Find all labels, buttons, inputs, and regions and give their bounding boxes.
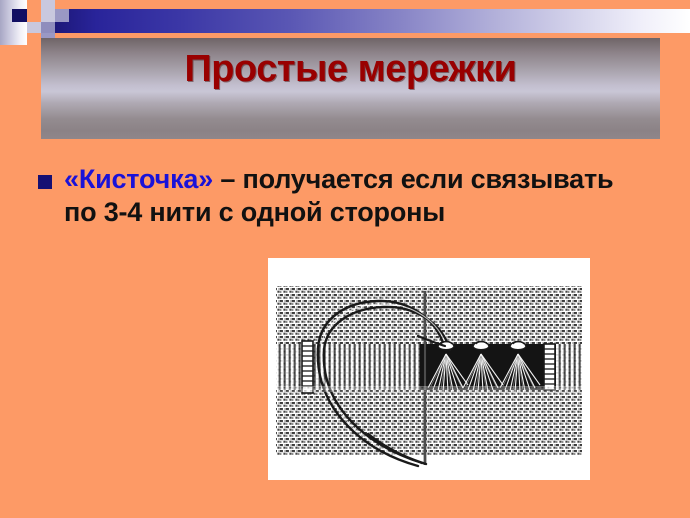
hemstitch-diagram-image — [268, 258, 590, 480]
square-bullet-icon — [38, 175, 52, 189]
checker-square-3 — [55, 0, 69, 9]
checker-square-6 — [41, 9, 55, 22]
illustration-frame — [268, 258, 590, 480]
checker-square-5 — [27, 9, 41, 22]
right-edge-bar — [544, 344, 555, 390]
slide-canvas: Простые мережки «Кисточка» – получается … — [0, 0, 690, 518]
checker-square-4 — [12, 9, 27, 22]
list-item: «Кисточка» – получается если связывать п… — [38, 163, 638, 229]
checker-square-9 — [41, 22, 55, 33]
bullet-paragraph: «Кисточка» – получается если связывать п… — [64, 164, 613, 227]
bullet-dash: – — [220, 164, 235, 194]
checker-square-8 — [27, 22, 41, 33]
top-gradient-band — [0, 9, 690, 33]
checker-square-1 — [27, 0, 41, 9]
checker-square-10 — [27, 33, 41, 45]
page-title: Простые мережки — [41, 48, 660, 91]
checker-square-7 — [55, 9, 69, 22]
corner-gradient-block — [0, 0, 27, 45]
title-plate: Простые мережки — [41, 38, 660, 139]
bullet-keyword: «Кисточка» — [64, 164, 213, 194]
left-edge-bar — [302, 341, 313, 393]
checker-square-2 — [41, 0, 55, 9]
bullet-list: «Кисточка» – получается если связывать п… — [38, 163, 638, 229]
